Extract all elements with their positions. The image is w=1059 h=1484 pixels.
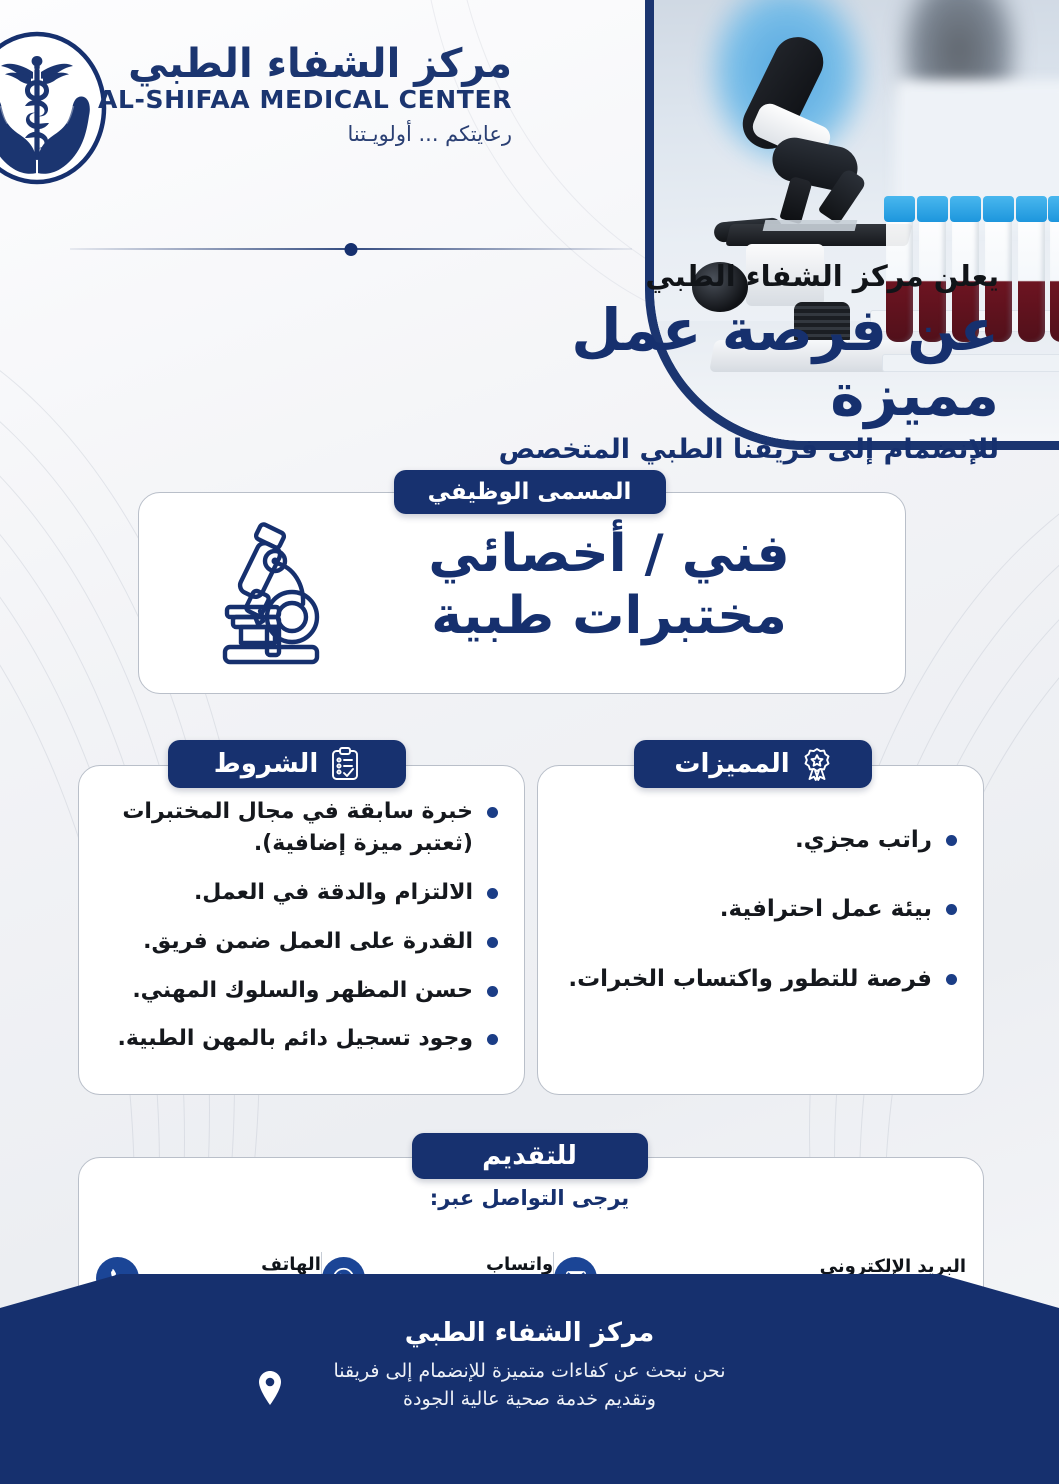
announcement-line-3: للإنضمام إلى فريقنا الطبي المتخصص bbox=[399, 432, 999, 467]
announcement-line-1: يعلن مركز الشفاء الطبي bbox=[399, 258, 999, 296]
benefits-list: راتب مجزي. بيئة عمل احترافية. فرصة للتطو… bbox=[538, 766, 983, 996]
list-item: القدرة على العمل ضمن فريق. bbox=[97, 926, 498, 958]
benefit-text: فرصة للتطور واكتساب الخبرات. bbox=[568, 963, 932, 996]
apply-badge: للتقديم bbox=[412, 1133, 648, 1179]
job-title-card: فني / أخصائي مختبرات طبية bbox=[138, 492, 906, 694]
job-badge-label: المسمى الوظيفي bbox=[428, 481, 632, 504]
job-title-line-1: فني / أخصائي bbox=[359, 523, 859, 585]
benefits-badge-label: المميزات bbox=[674, 751, 789, 777]
footer-description: نحن نبحث عن كفاءات متميزة للإنضمام إلى ف… bbox=[0, 1358, 1059, 1413]
footer-title: مركز الشفاء الطبي bbox=[0, 1318, 1059, 1348]
brand-slogan: رعايتكم ... أولويـتنا bbox=[32, 122, 512, 146]
footer-band: مركز الشفاء الطبي نحن نبحث عن كفاءات متم… bbox=[0, 1274, 1059, 1484]
footer-line-2: وتقديم خدمة صحية عالية الجودة bbox=[0, 1386, 1059, 1414]
microscope-icon bbox=[213, 519, 339, 673]
apply-subtitle: يرجى التواصل عبر: bbox=[0, 1186, 1059, 1210]
contact-label: واتساب bbox=[486, 1254, 553, 1275]
condition-text: الالتزام والدقة في العمل. bbox=[194, 877, 473, 909]
list-item: فرصة للتطور واكتساب الخبرات. bbox=[556, 963, 957, 996]
contact-label: البريد الإلكتروني bbox=[820, 1256, 966, 1277]
condition-text: خبرة سابقة في مجال المختبرات (ثعتبر ميزة… bbox=[97, 796, 473, 860]
condition-text: القدرة على العمل ضمن فريق. bbox=[143, 926, 473, 958]
announcement-block: يعلن مركز الشفاء الطبي عن فرصة عمل مميزة… bbox=[399, 258, 999, 467]
list-item: الالتزام والدقة في العمل. bbox=[97, 877, 498, 909]
conditions-badge-label: الشروط bbox=[214, 751, 318, 777]
job-title-text: فني / أخصائي مختبرات طبية bbox=[359, 523, 859, 648]
condition-text: حسن المظهر والسلوك المهني. bbox=[132, 975, 473, 1007]
brand-name-english: AL-SHIFAA MEDICAL CENTER bbox=[32, 85, 512, 114]
list-item: وجود تسجيل دائم بالمهن الطبية. bbox=[97, 1023, 498, 1055]
benefits-card: راتب مجزي. بيئة عمل احترافية. فرصة للتطو… bbox=[537, 765, 984, 1095]
benefit-text: راتب مجزي. bbox=[795, 824, 932, 857]
list-item: بيئة عمل احترافية. bbox=[556, 893, 957, 926]
job-title-line-2: مختبرات طبية bbox=[359, 585, 859, 647]
footer-line-1: نحن نبحث عن كفاءات متميزة للإنضمام إلى ف… bbox=[0, 1358, 1059, 1386]
list-item: راتب مجزي. bbox=[556, 824, 957, 857]
announcement-line-2: عن فرصة عمل مميزة bbox=[399, 298, 999, 428]
conditions-badge: الشروط bbox=[168, 740, 406, 788]
conditions-card: خبرة سابقة في مجال المختبرات (ثعتبر ميزة… bbox=[78, 765, 525, 1095]
location-pin-icon bbox=[255, 1370, 285, 1410]
award-ribbon-icon bbox=[802, 747, 832, 781]
benefits-badge: المميزات bbox=[634, 740, 872, 788]
conditions-list: خبرة سابقة في مجال المختبرات (ثعتبر ميزة… bbox=[79, 766, 524, 1055]
condition-text: وجود تسجيل دائم بالمهن الطبية. bbox=[118, 1023, 473, 1055]
clipboard-checklist-icon bbox=[330, 747, 360, 781]
list-item: خبرة سابقة في مجال المختبرات (ثعتبر ميزة… bbox=[97, 796, 498, 860]
apply-badge-label: للتقديم bbox=[482, 1143, 577, 1169]
brand-name-arabic: مركز الشفاء الطبي bbox=[32, 42, 512, 87]
benefit-text: بيئة عمل احترافية. bbox=[720, 893, 932, 926]
contact-label: الهاتف bbox=[261, 1254, 321, 1275]
divider-dot bbox=[345, 243, 358, 256]
job-title-badge: المسمى الوظيفي bbox=[394, 470, 666, 514]
section-divider bbox=[70, 243, 632, 255]
list-item: حسن المظهر والسلوك المهني. bbox=[97, 975, 498, 1007]
brand-header: مركز الشفاء الطبي AL-SHIFAA MEDICAL CENT… bbox=[0, 22, 700, 202]
